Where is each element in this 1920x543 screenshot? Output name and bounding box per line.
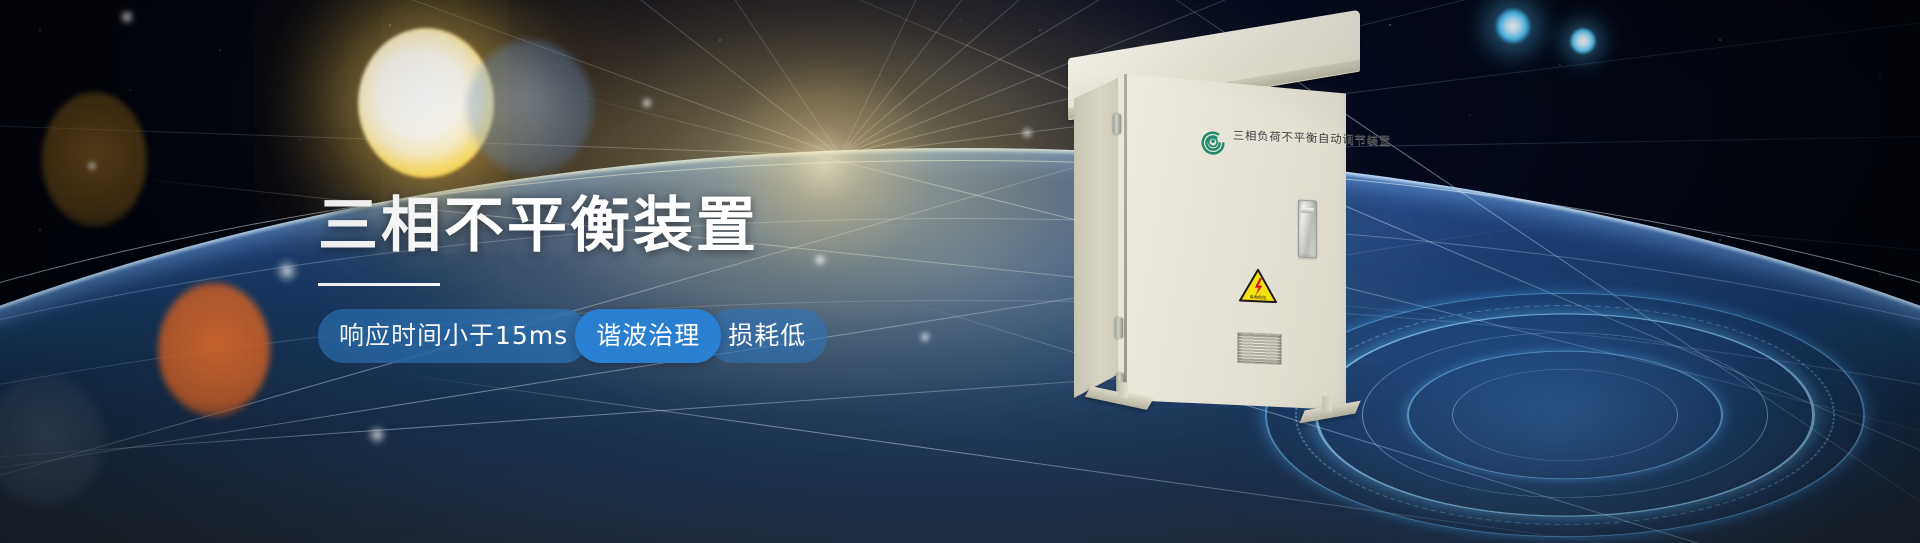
feature-tag-list: 响应时间小于15ms 谐波治理 损耗低 [318,309,938,363]
brand-logo-icon [1198,127,1228,158]
high-voltage-warning-icon: 有电危险 [1238,267,1278,305]
bokeh-circle-amber [42,92,147,227]
feature-tag-response-time: 响应时间小于15ms [318,309,589,363]
ventilation-grille [1237,332,1282,365]
door-handle[interactable] [1298,200,1317,259]
cabinet-foot-post [1322,395,1332,412]
feature-tag-low-loss: 损耗低 [707,309,827,363]
title-divider [318,283,440,286]
bokeh-spark-cyan [1570,28,1596,54]
product-cabinet: 三相负荷不平衡自动调节装置 有电危险 [1060,18,1390,438]
cabinet-door-seam [1124,74,1127,404]
cabinet-hinge [1113,114,1121,134]
cabinet-hinge [1115,318,1123,338]
hero-banner: 三相负荷不平衡自动调节装置 有电危险 三相不平衡装置 响应时间小于15ms 谐波… [0,0,1920,543]
feature-tag-harmonic-control: 谐波治理 [575,309,721,363]
banner-copy: 三相不平衡装置 响应时间小于15ms 谐波治理 损耗低 [318,196,938,363]
cabinet-foot-post [1118,381,1128,398]
bokeh-spark-cyan [1495,8,1531,44]
bokeh-circle-blue [467,40,593,175]
page-title: 三相不平衡装置 [318,196,938,256]
bokeh-circle-orange [158,283,270,416]
warning-text: 有电危险 [1250,293,1267,300]
